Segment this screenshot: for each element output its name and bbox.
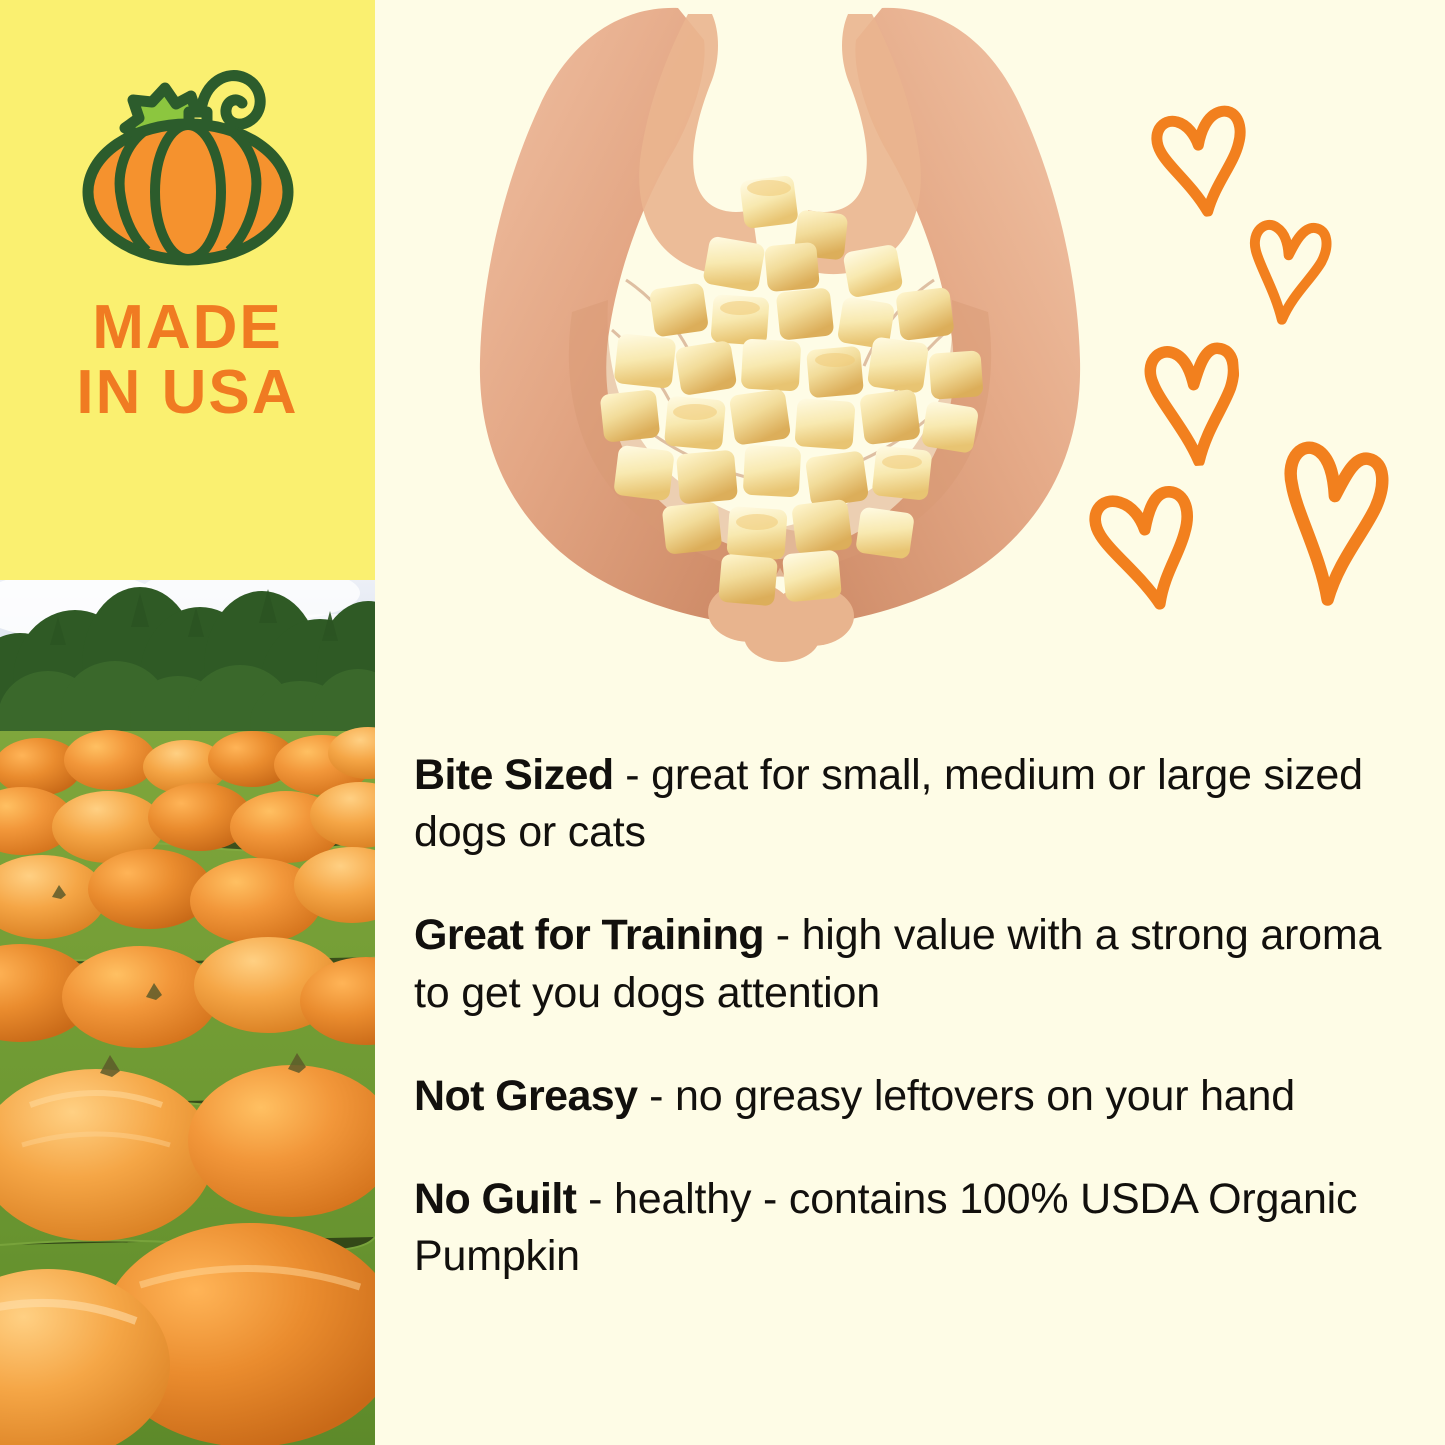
- feature-bite-sized: Bite Sized - great for small, medium or …: [414, 747, 1394, 861]
- heart-icon-5: [1274, 437, 1391, 610]
- heart-icon-2: [1240, 213, 1335, 329]
- made-in-usa-line1: MADE: [92, 293, 283, 362]
- feature-lead: Not Greasy: [414, 1072, 637, 1120]
- hands-with-treats-photo: [420, 0, 1140, 690]
- made-in-usa-badge-panel: MADE IN USA: [0, 0, 375, 580]
- heart-icon-1: [1144, 101, 1257, 214]
- made-in-usa-text: MADE IN USA: [0, 295, 375, 425]
- feature-rest: - no greasy leftovers on your hand: [637, 1072, 1295, 1120]
- feature-lead: Great for Training: [414, 911, 764, 959]
- product-infographic: MADE IN USA: [0, 0, 1445, 1445]
- zigzag-divider: [0, 534, 375, 580]
- feature-lead: Bite Sized: [414, 751, 614, 799]
- heart-icon-3: [1141, 337, 1246, 469]
- feature-no-guilt: No Guilt - healthy - contains 100% USDA …: [414, 1171, 1394, 1285]
- feature-lead: No Guilt: [414, 1175, 576, 1223]
- pumpkin-patch-photo: [0, 545, 375, 1445]
- made-in-usa-line2: IN USA: [0, 360, 375, 425]
- pumpkin-icon: [73, 52, 303, 267]
- feature-not-greasy: Not Greasy - no greasy leftovers on your…: [414, 1068, 1394, 1125]
- feature-list: Bite Sized - great for small, medium or …: [414, 704, 1394, 1285]
- feature-great-for-training: Great for Training - high value with a s…: [414, 907, 1394, 1021]
- decorative-hearts: [1090, 95, 1445, 655]
- left-column: MADE IN USA: [0, 0, 375, 1445]
